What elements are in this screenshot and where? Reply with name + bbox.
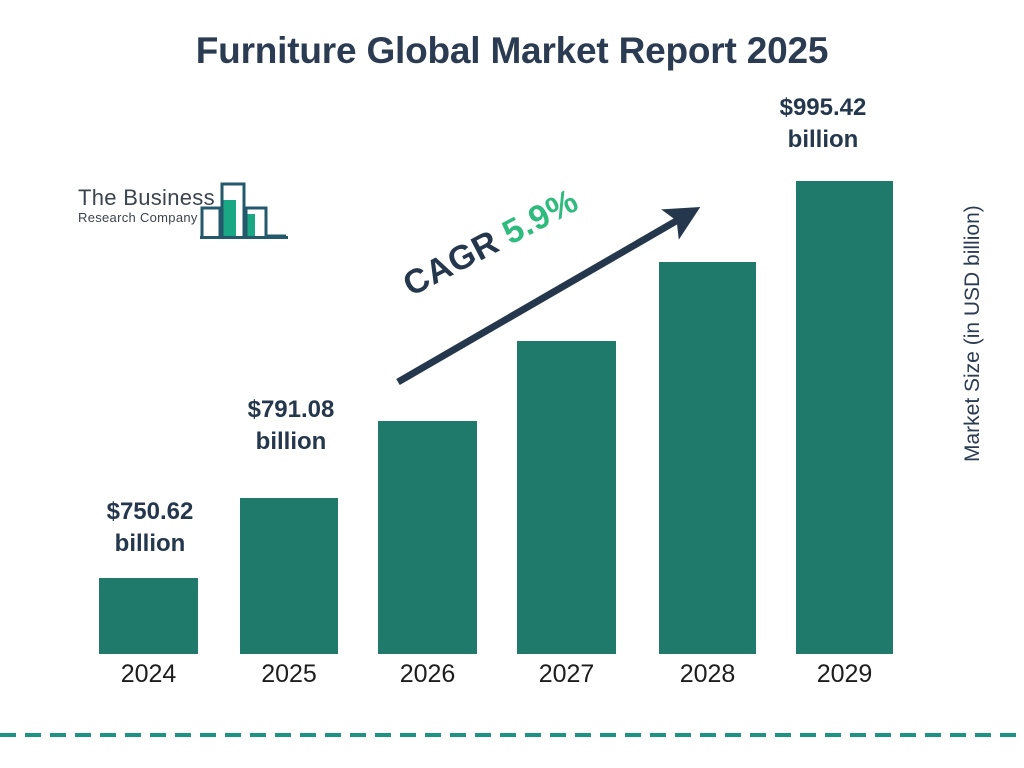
- bar-2029: [796, 181, 893, 654]
- value-label-2025-unit: billion: [230, 426, 352, 458]
- chart-canvas: Furniture Global Market Report 2025 The …: [0, 0, 1024, 768]
- bar-2027: [517, 341, 616, 654]
- xtick-2027: 2027: [517, 660, 616, 689]
- bar-2028: [659, 262, 756, 654]
- value-label-2029: $995.42 billion: [762, 92, 884, 156]
- xtick-2025: 2025: [240, 660, 338, 689]
- value-label-2024: $750.62 billion: [90, 496, 210, 560]
- xtick-2029: 2029: [796, 660, 893, 689]
- cagr-value: 5.9%: [496, 182, 584, 252]
- value-label-2029-amount: $995.42: [762, 92, 884, 124]
- value-label-2025-amount: $791.08: [230, 394, 352, 426]
- bar-2024: [99, 578, 198, 654]
- footer-divider: [0, 733, 1024, 737]
- y-axis-caption: Market Size (in USD billion): [961, 222, 985, 462]
- bar-2025: [240, 498, 338, 654]
- cagr-annotation: CAGR 5.9%: [397, 182, 585, 305]
- plot-area: 2024 2025 2026 2027 2028 2029 $750.62 bi…: [0, 0, 1024, 768]
- xtick-2024: 2024: [99, 660, 198, 689]
- value-label-2024-unit: billion: [90, 528, 210, 560]
- bar-2026: [378, 421, 477, 654]
- xtick-2026: 2026: [378, 660, 477, 689]
- cagr-label: CAGR: [397, 223, 505, 304]
- value-label-2024-amount: $750.62: [90, 496, 210, 528]
- xtick-2028: 2028: [659, 660, 756, 689]
- value-label-2025: $791.08 billion: [230, 394, 352, 458]
- value-label-2029-unit: billion: [762, 124, 884, 156]
